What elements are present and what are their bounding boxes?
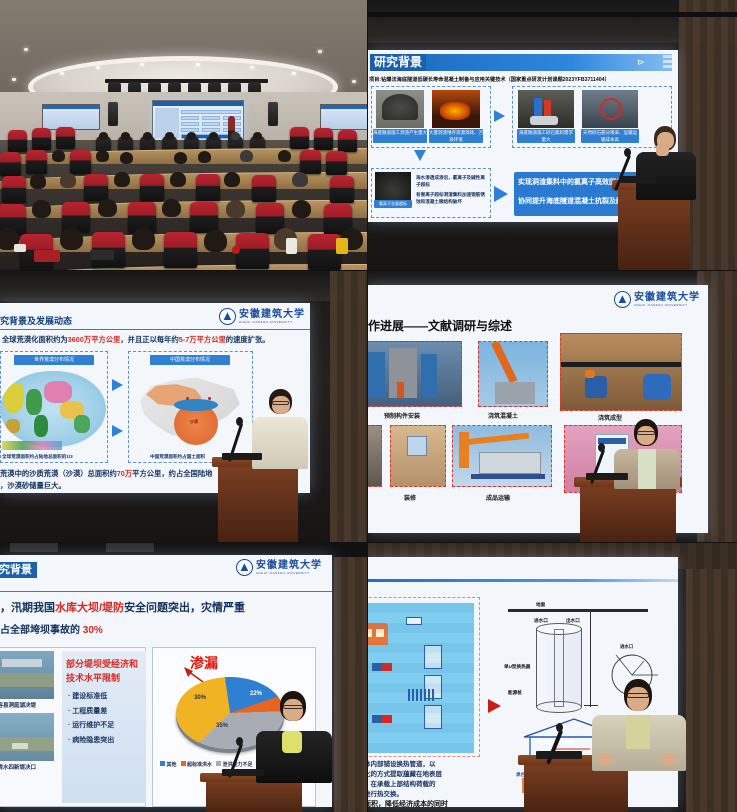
- slide-footline: 荒漠中的沙质荒漠（沙漠）总面积约70万平方公里，约占全国陆地: [0, 469, 212, 479]
- photo-levee-breach-1: [0, 651, 54, 699]
- photo-caption-1: 华容县洞庭湖决堤: [0, 701, 36, 709]
- slide-body-line-4: 进行热交换。: [368, 791, 403, 798]
- world-map-caption: 全球荒漠面积约占陆地总面积的1/3: [2, 453, 73, 460]
- photo-label-5: 氯离子含量超标: [374, 200, 412, 208]
- university-seal-icon: [219, 308, 236, 325]
- panel-auditorium[interactable]: [0, 0, 367, 270]
- panel-prefab-literature[interactable]: 安徽建筑大学 ANHUI JIANZHU UNIVERSITY 作进展——文献调…: [368, 271, 737, 542]
- laptop: [222, 453, 262, 460]
- slide-title: 究背景及发展动态: [0, 314, 72, 327]
- university-name-cn: 安徽建筑大学: [239, 310, 305, 320]
- speaker-left: [108, 102, 118, 126]
- china-map-caption: 中国荒漠面积约占国土面积: [150, 453, 205, 460]
- photo-levee-breach-2: [0, 713, 54, 761]
- laptop: [586, 473, 628, 480]
- university-name-en: ANHUI JIANZHU UNIVERSITY: [256, 571, 322, 575]
- photo-concrete-pour: [478, 341, 548, 407]
- pie-label-grey: 35%: [216, 723, 228, 729]
- panel-dam-safety[interactable]: 安徽建筑大学 ANHUI JIANZHU UNIVERSITY 究背景 ，汛期我…: [0, 543, 367, 812]
- photo-caption-4: 装修: [404, 493, 416, 502]
- pie-label-yellow: 30%: [194, 695, 206, 701]
- slide-headline: ，汛期我国水库大坝/堤防安全问题突出，灾情严重: [0, 599, 245, 615]
- panel-speaker-marine-tunnel[interactable]: 研究背景 ⊳ 项目:钻爆法海底隧道低碳长寿命混凝土制备与应用关键技术（国家重点研…: [368, 0, 737, 270]
- bullet-item: 工程质量差: [68, 706, 114, 716]
- legend-item: 其他: [160, 761, 177, 768]
- photo-caption-1: 预制构件安装: [384, 411, 420, 420]
- photo-caption-2: 浇筑混凝土: [488, 411, 518, 420]
- slide-subline: 占全部垮坝事故的 30%: [0, 621, 103, 636]
- university-name-cn: 安徽建筑大学: [634, 293, 700, 303]
- photo-caption-5: 成品运输: [486, 493, 510, 502]
- university-seal-icon: [614, 291, 631, 308]
- slide-callout: 部分堤坝受经济和技术水平限制: [66, 657, 142, 685]
- share-icon: ⊳: [634, 56, 648, 69]
- laptop: [620, 176, 656, 183]
- slide-body-line-2: 化的方式提取蕴藏在地表层: [368, 771, 442, 778]
- university-logo: 安徽建筑大学 ANHUI JIANZHU UNIVERSITY: [614, 291, 700, 308]
- presenter: [636, 126, 696, 196]
- laptop: [222, 769, 264, 776]
- podium: [218, 463, 298, 542]
- podium: [206, 779, 302, 812]
- slide-body-line-1: 体内部铺设换热管道，以: [368, 761, 436, 768]
- slide-project-line: 项目:钻爆法海底隧道低碳长寿命混凝土制备与应用关键技术（国家重点研发计划课题20…: [369, 76, 610, 83]
- university-logo: 安徽建筑大学 ANHUI JIANZHU UNIVERSITY: [236, 559, 322, 576]
- university-name-cn: 安徽建筑大学: [256, 561, 322, 571]
- speaker-right: [268, 102, 278, 126]
- schem-label-inlet-plan: 进水口: [620, 643, 633, 650]
- photo-label-1: 海底隧道施工洞渣产生量大: [373, 129, 427, 143]
- side-display-left: [42, 104, 100, 130]
- slide-bottom-line: 面积，降低经济成本的同时: [368, 801, 448, 807]
- university-name-en: ANHUI JIANZHU UNIVERSITY: [239, 320, 305, 324]
- bullet-item: 建设标准低: [68, 691, 114, 701]
- world-desert-map: [0, 371, 106, 447]
- university-logo: 安徽建筑大学 ANHUI JIANZHU UNIVERSITY: [219, 308, 305, 325]
- slide-title: 作进展——文献调研与综述: [368, 317, 512, 334]
- slide-bullet-2: 有害离子超标洞渣集料加速钢筋锈蚀和混凝土微结构破坏: [416, 191, 488, 205]
- photo-collage: 研究背景 ⊳ 项目:钻爆法海底隧道低碳长寿命混凝土制备与应用关键技术（国家重点研…: [0, 0, 737, 812]
- schem-label-exchanger: 单U型换热器: [504, 663, 530, 670]
- slide-bullet-list: 建设标准低 工程质量差 运行维护不足 病险隐患突出: [68, 691, 114, 749]
- bullet-item: 运行维护不足: [68, 720, 114, 730]
- photo-label-2: 大量洞渣堆存资源消耗、污染环境: [429, 129, 483, 143]
- red-arrow-icon: [488, 699, 501, 713]
- china-desert-map: 沙漠: [132, 367, 248, 453]
- slide-bullet-1: 海水渗透成渗后，氯离子及碱性离子超标: [416, 174, 488, 188]
- pie-legend: 其他 超标准洪水 泄洪能力不足: [160, 761, 253, 768]
- presenter: [256, 691, 332, 779]
- podium: [580, 483, 676, 542]
- slide-footline-2: ，沙漠砂储量巨大。: [0, 481, 66, 491]
- laptop: [536, 751, 582, 759]
- university-seal-icon: [236, 559, 253, 576]
- photo-label-4: 天然砂石部分限采、运输运输成本高: [581, 129, 639, 143]
- photo-interior-finish: [390, 425, 446, 487]
- slide-title: 究背景: [0, 562, 37, 578]
- panel-energy-pile[interactable]: 体内部铺设换热管道，以 化的方式提取蕴藏在地表层 ，在承载上部结构荷载的 进行热…: [368, 543, 737, 812]
- side-display-right: [320, 104, 367, 130]
- ground-line: [508, 609, 648, 612]
- district-heating-diagram: [368, 603, 474, 753]
- panel-desertification[interactable]: 安徽建筑大学 ANHUI JIANZHU UNIVERSITY 究背景及发展动态…: [0, 271, 367, 542]
- photo-product-transport: [452, 425, 552, 487]
- schem-label-ground: 地面: [536, 601, 545, 608]
- presenter: [592, 679, 686, 767]
- photo-label-3: 海底隧道施工砂石集料需求量大: [517, 129, 575, 143]
- slide-headline: 全球荒漠化面积约为3600万平方公里，并且正以每年约5-7万平方公里的速度扩张。: [2, 335, 270, 345]
- university-name-en: ANHUI JIANZHU UNIVERSITY: [634, 303, 700, 307]
- photo-caption-2: 港清水四新堤决口: [0, 763, 36, 771]
- schem-label-pile: 能源桩: [508, 689, 522, 696]
- bullet-item: 病险隐患突出: [68, 735, 114, 745]
- slide-title: 研究背景: [370, 54, 426, 71]
- slide-body-line-3: ，在承载上部结构荷载的: [368, 781, 436, 788]
- photo-site-extra: [368, 425, 382, 487]
- photo-prefab-install: [368, 341, 462, 407]
- legend-item: 超标准洪水: [181, 761, 213, 768]
- photo-cast-forming: [560, 333, 682, 411]
